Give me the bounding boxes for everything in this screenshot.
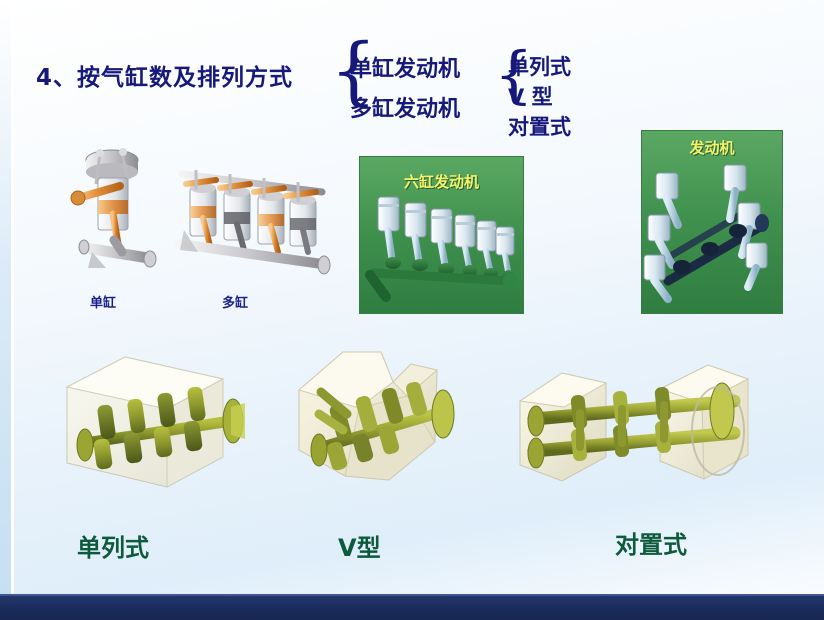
caption-inline-type: 单列式 (77, 528, 149, 563)
slide: 4、按气缸数及排列方式 { { 单缸发动机 多缸发动机 单列式 V 型 对置式 (0, 0, 824, 620)
arrangement-item-2: 对置式 (508, 112, 571, 142)
caption-single-cylinder: 单缸 (90, 292, 116, 311)
engine-type-item-0: 单缸发动机 (350, 50, 460, 90)
page-title: 4、按气缸数及排列方式 (36, 58, 293, 92)
arrangement-list: 单列式 V 型 对置式 (508, 52, 571, 142)
arrangement-item-1: V 型 (508, 82, 571, 112)
engine-type-item-1: 多缸发动机 (350, 90, 460, 130)
flat-opposed-engine-illustration (510, 345, 760, 520)
arrangement-item-0: 单列式 (508, 52, 571, 82)
multi-cylinder-illustration (172, 140, 332, 290)
footer-bar (0, 594, 824, 620)
caption-v-type: V型 (338, 528, 381, 563)
engine-type-list: 单缸发动机 多缸发动机 (350, 50, 460, 130)
caption-multi-cylinder: 多缸 (222, 292, 248, 311)
caption-flat-type: 对置式 (615, 525, 687, 560)
v-type-engine-illustration (285, 330, 485, 515)
six-cylinder-engine-photo: 六缸发动机 (359, 156, 524, 314)
v-engine-photo: 发动机 (641, 130, 783, 314)
single-cylinder-illustration (62, 140, 167, 290)
left-accent-band (0, 0, 14, 620)
inline-engine-illustration (55, 335, 265, 510)
